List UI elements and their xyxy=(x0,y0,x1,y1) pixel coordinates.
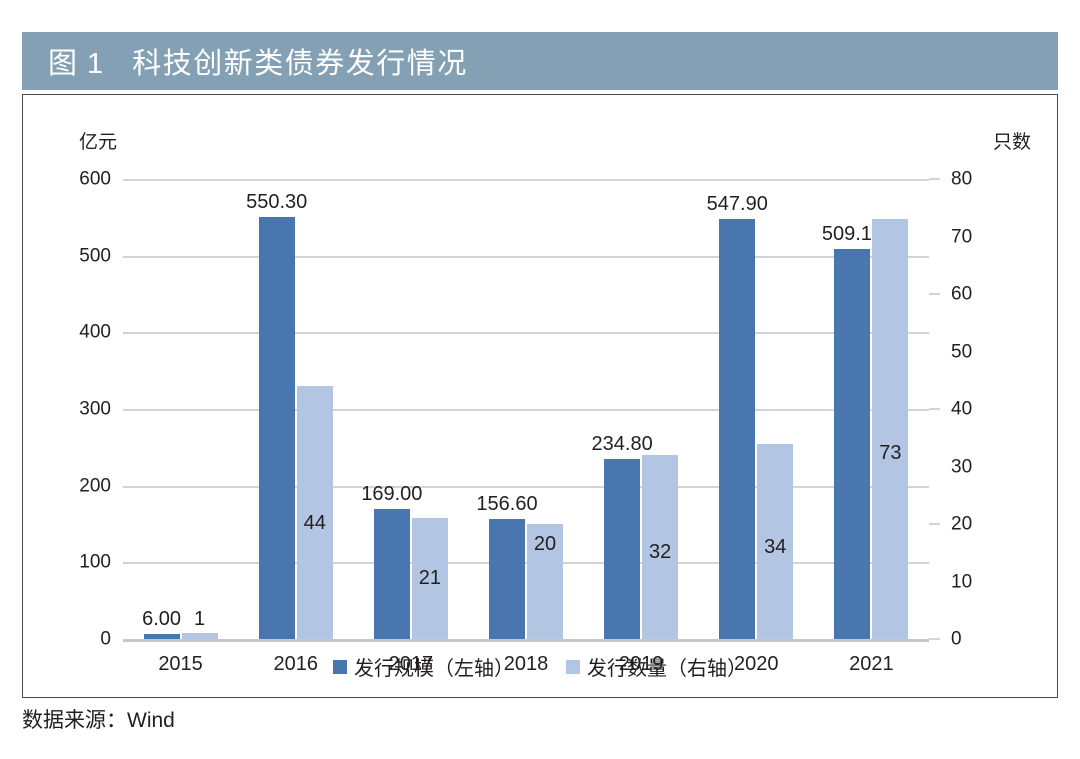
chart-frame: 亿元 只数 0100200300400500600 01020304050607… xyxy=(22,94,1058,698)
bar-issuance-count[interactable]: 73 xyxy=(872,219,908,639)
right-axis-tick-label: 80 xyxy=(951,170,972,189)
bar-group: 6.0012015 xyxy=(123,179,238,639)
bar-issuance-scale[interactable]: 547.90 xyxy=(719,219,755,639)
chart-legend: 发行规模（左轴）发行数量（右轴） xyxy=(23,652,1057,681)
bar-group: 509.19732021 xyxy=(814,179,929,639)
right-axis-tick-mark xyxy=(929,293,940,295)
bar-issuance-scale[interactable]: 234.80 xyxy=(604,459,640,639)
legend-swatch-icon xyxy=(333,660,347,674)
bar-value-label-count: 73 xyxy=(879,443,901,463)
bar-value-label-count: 34 xyxy=(764,537,786,557)
legend-item[interactable]: 发行规模（左轴） xyxy=(333,652,514,681)
right-axis-tick-label: 60 xyxy=(951,285,972,304)
bar-issuance-scale[interactable]: 509.19 xyxy=(834,249,870,639)
bar-value-label-scale: 156.60 xyxy=(476,494,537,514)
bar-group: 547.90342020 xyxy=(699,179,814,639)
figure-header-band: 图 1 科技创新类债券发行情况 xyxy=(22,32,1058,90)
left-axis-tick-label: 100 xyxy=(79,553,111,572)
bar-issuance-count[interactable]: 21 xyxy=(412,518,448,639)
bar-value-label-count: 1 xyxy=(194,609,205,629)
right-axis-tick-mark xyxy=(929,178,940,180)
bar-issuance-count[interactable]: 44 xyxy=(297,386,333,639)
bar-issuance-count[interactable]: 32 xyxy=(642,455,678,639)
right-axis-tick-label: 70 xyxy=(951,227,972,246)
figure-number: 图 1 xyxy=(48,40,104,82)
bar-group: 156.60202018 xyxy=(468,179,583,639)
figure-container: 图 1 科技创新类债券发行情况 亿元 只数 010020030040050060… xyxy=(22,32,1058,732)
bar-issuance-count[interactable]: 20 xyxy=(527,524,563,639)
bar-group: 550.30442016 xyxy=(238,179,353,639)
bar-issuance-scale[interactable]: 169.00 xyxy=(374,509,410,639)
bar-group: 169.00212017 xyxy=(353,179,468,639)
right-axis-tick-label: 30 xyxy=(951,457,972,476)
plot-area-wrapper: 亿元 只数 0100200300400500600 01020304050607… xyxy=(23,95,1057,697)
right-axis-unit-label: 只数 xyxy=(993,127,1031,154)
left-axis-tick-label: 200 xyxy=(79,476,111,495)
bar-value-label-count: 44 xyxy=(304,513,326,533)
right-axis-tick-label: 10 xyxy=(951,572,972,591)
gridline xyxy=(123,639,929,642)
bar-issuance-scale[interactable]: 156.60 xyxy=(489,519,525,639)
figure-title: 科技创新类债券发行情况 xyxy=(132,40,468,82)
right-axis-tick-mark xyxy=(929,408,940,410)
right-axis-tick-label: 0 xyxy=(951,630,962,649)
bar-value-label-count: 21 xyxy=(419,568,441,588)
bar-issuance-scale[interactable]: 6.00 xyxy=(144,634,180,639)
right-axis-tick-mark xyxy=(929,523,940,525)
left-axis-tick-label: 0 xyxy=(100,630,111,649)
bar-value-label-scale: 550.30 xyxy=(246,192,307,212)
left-axis-tick-label: 300 xyxy=(79,400,111,419)
bar-value-label-scale: 169.00 xyxy=(361,484,422,504)
left-axis-tick-label: 600 xyxy=(79,170,111,189)
source-note: 数据来源：Wind xyxy=(22,704,175,734)
legend-label: 发行规模（左轴） xyxy=(354,652,514,681)
right-axis-tick-label: 20 xyxy=(951,515,972,534)
left-axis-tick-label: 400 xyxy=(79,323,111,342)
bar-value-label-count: 32 xyxy=(649,542,671,562)
right-axis-tick-mark xyxy=(929,638,940,640)
left-axis-unit-label: 亿元 xyxy=(79,127,117,154)
left-axis-tick-label: 500 xyxy=(79,246,111,265)
right-axis-tick-label: 50 xyxy=(951,342,972,361)
right-axis-tick-label: 40 xyxy=(951,400,972,419)
bar-value-label-scale: 547.90 xyxy=(707,194,768,214)
legend-label: 发行数量（右轴） xyxy=(587,652,747,681)
bar-issuance-count[interactable]: 1 xyxy=(182,633,218,639)
bar-value-label-scale: 234.80 xyxy=(592,434,653,454)
bar-value-label-scale: 6.00 xyxy=(142,609,181,629)
bar-value-label-count: 20 xyxy=(534,534,556,554)
bar-issuance-scale[interactable]: 550.30 xyxy=(259,217,295,639)
plot-area: 0100200300400500600 01020304050607080 6.… xyxy=(123,179,929,639)
legend-swatch-icon xyxy=(566,660,580,674)
bar-groups: 6.0012015550.30442016169.00212017156.602… xyxy=(123,179,929,639)
legend-item[interactable]: 发行数量（右轴） xyxy=(566,652,747,681)
bar-group: 234.80322019 xyxy=(584,179,699,639)
bar-issuance-count[interactable]: 34 xyxy=(757,444,793,640)
